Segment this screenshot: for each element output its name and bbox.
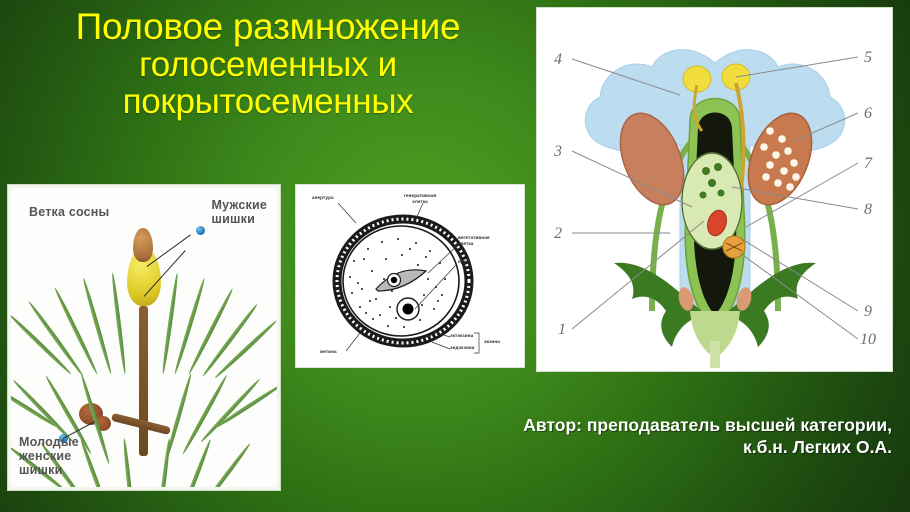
pine-needle <box>122 438 135 490</box>
pollen-label-exine: экзина <box>484 339 500 345</box>
flower-label-2: 2 <box>554 225 562 243</box>
pollen-grain-diagram-panel: апертура генеративная клетка вегетативна… <box>296 185 524 367</box>
flower-label-7: 7 <box>864 155 872 173</box>
pine-needle <box>161 273 179 375</box>
pollen-label-nucleus: ядро <box>458 259 470 265</box>
flower-diagram-svg <box>540 11 889 368</box>
pine-needle <box>201 443 251 490</box>
pine-caption-branch: Ветка сосны <box>29 205 109 219</box>
pollen-label-aperture: апертура <box>312 195 334 201</box>
pine-branch-image-panel: Ветка сосны Мужские шишки Молодые женски… <box>8 185 280 490</box>
pine-stem <box>139 306 148 456</box>
flower-label-3: 3 <box>554 143 562 161</box>
pine-needle <box>157 438 171 490</box>
author-credit: Автор: преподаватель высшей категории, к… <box>432 414 892 459</box>
pine-branch-illustration: Ветка сосны Мужские шишки Молодые женски… <box>11 188 277 487</box>
flower-label-4: 4 <box>554 51 562 69</box>
flower-structure-diagram-panel: 4 3 2 1 5 6 7 8 9 10 <box>537 8 892 371</box>
pollen-label-ectexine: эктэкзина <box>450 333 473 339</box>
author-line-2: к.б.н. Легких О.А. <box>432 436 892 458</box>
pollen-label-vegetative: вегетативная клетка <box>458 235 490 246</box>
flower-label-5: 5 <box>864 49 872 67</box>
page-title: Половое размножение голосеменных и покры… <box>6 8 530 120</box>
pine-needle <box>179 439 212 490</box>
pine-needle <box>82 277 113 374</box>
pine-needle <box>79 438 111 490</box>
presentation-slide: Половое размножение голосеменных и покры… <box>0 0 910 512</box>
pine-caption-female-cones: Молодые женские шишки <box>19 435 79 477</box>
pollen-label-endexine: эндэкзина <box>450 345 474 351</box>
pine-male-cone-2 <box>133 228 153 262</box>
pine-needle <box>173 278 206 375</box>
flower-label-10: 10 <box>860 331 876 349</box>
pollen-grain-illustration: апертура генеративная клетка вегетативна… <box>298 187 522 365</box>
flower-label-6: 6 <box>864 105 872 123</box>
flower-label-1: 1 <box>558 321 566 339</box>
flower-structure-illustration: 4 3 2 1 5 6 7 8 9 10 <box>540 11 889 368</box>
pollen-label-intine: интина <box>320 349 337 355</box>
pine-caption-male-cones: Мужские шишки <box>212 198 267 226</box>
flower-label-8: 8 <box>864 201 872 219</box>
pine-needle <box>111 273 127 375</box>
title-line-1: Половое размножение <box>6 8 530 47</box>
male-cone-marker-dot <box>196 226 205 235</box>
title-line-3: покрытосеменных <box>6 84 530 121</box>
pollen-label-generative: генеративная клетка <box>404 193 436 204</box>
flower-label-9: 9 <box>864 303 872 321</box>
title-line-2: голосеменных и <box>6 47 530 84</box>
author-line-1: Автор: преподаватель высшей категории, <box>432 414 892 436</box>
